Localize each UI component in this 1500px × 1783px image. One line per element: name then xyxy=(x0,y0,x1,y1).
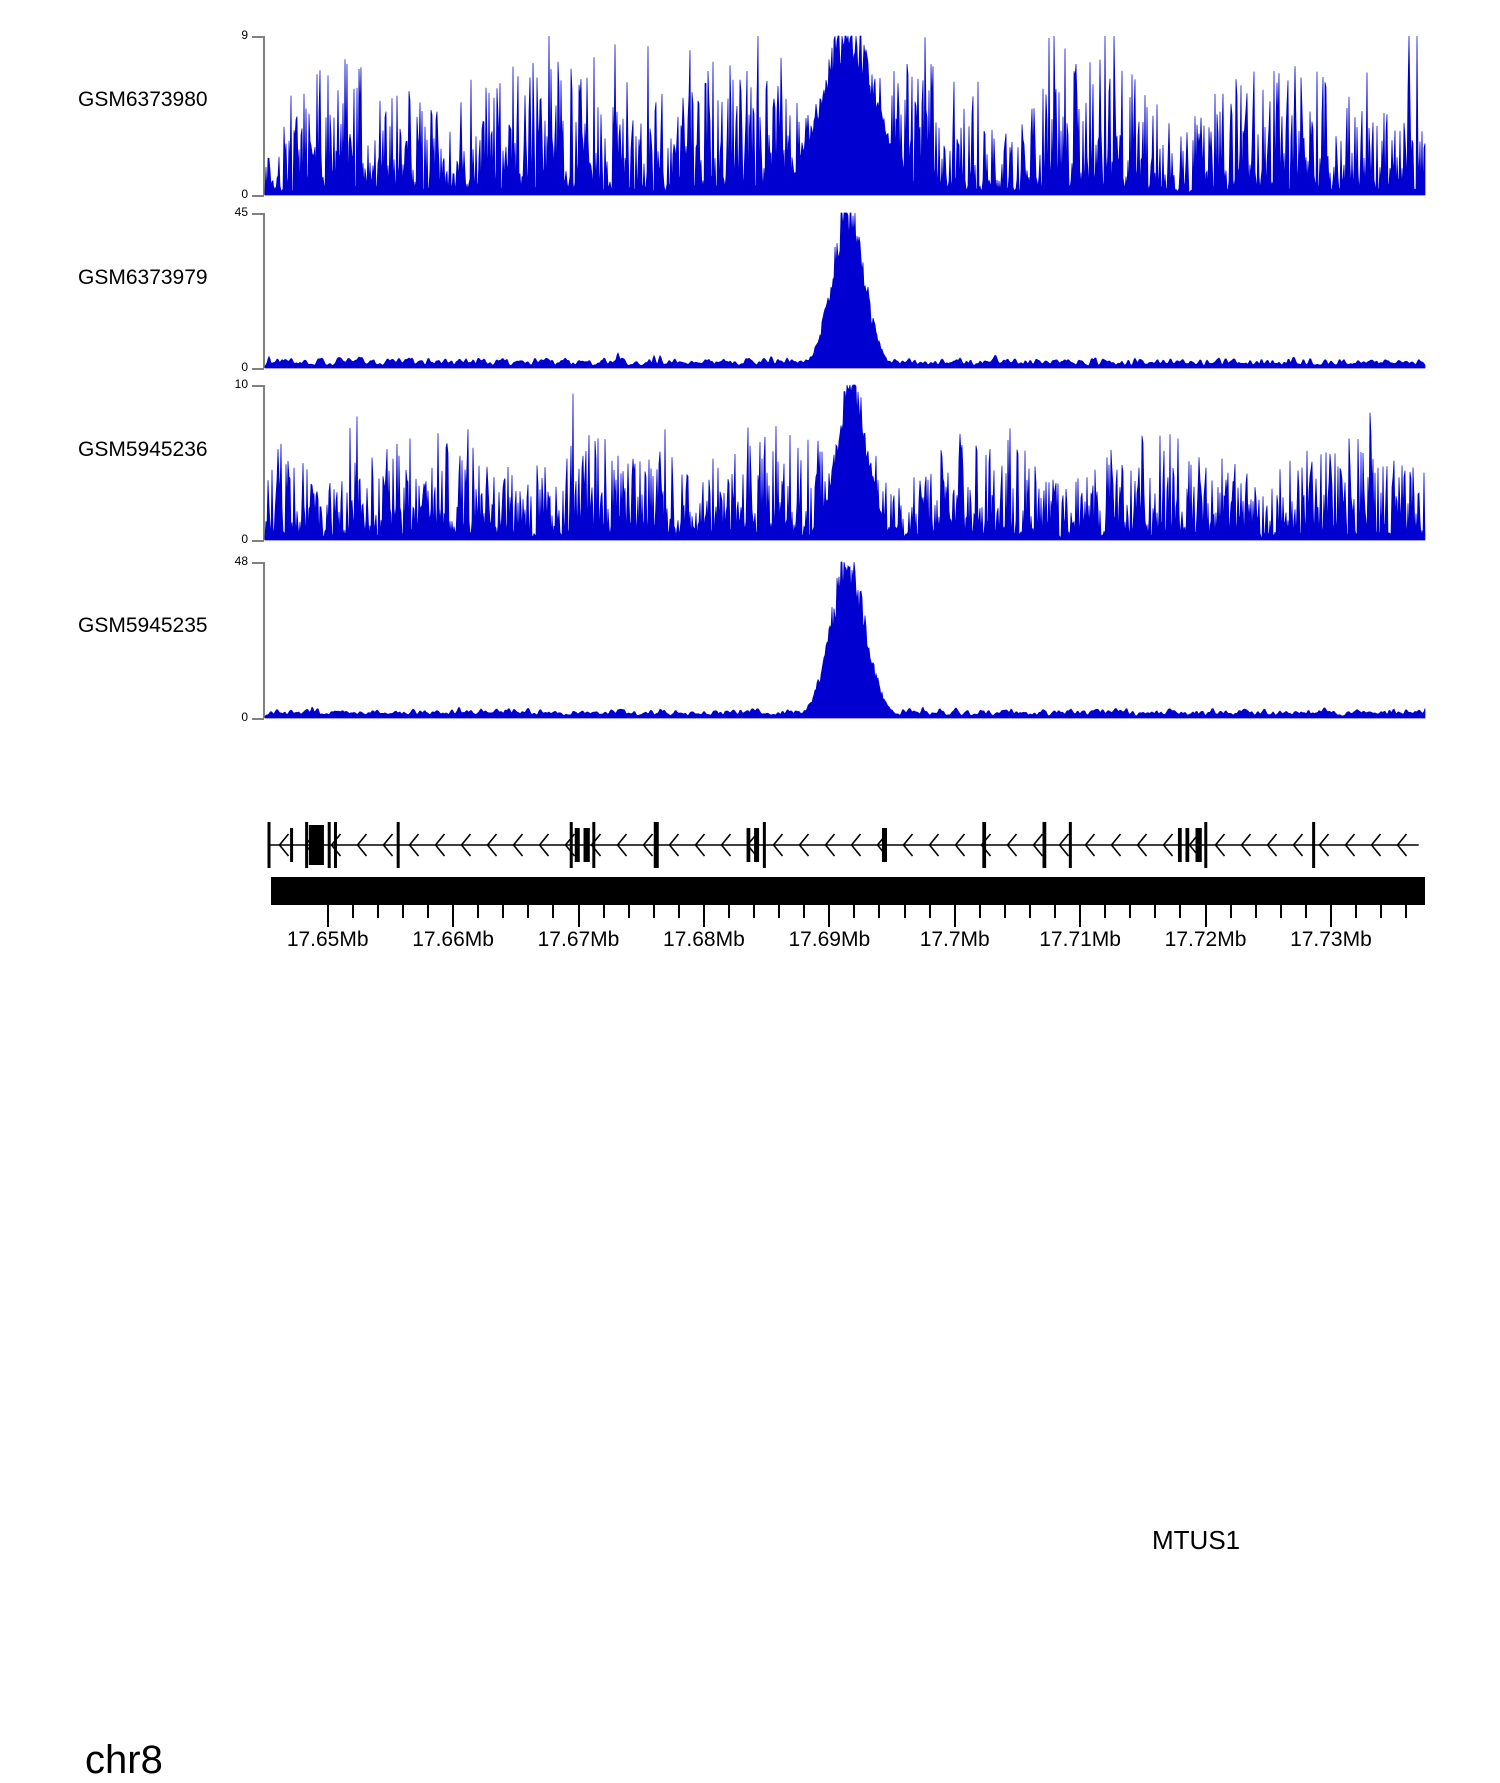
exon-block xyxy=(309,825,324,865)
y-axis-min-label: 0 xyxy=(195,710,248,724)
ruler-tick-minor xyxy=(904,905,906,918)
ruler-tick-minor xyxy=(803,905,805,918)
ruler-tick-minor xyxy=(929,905,931,918)
y-axis-min-label: 0 xyxy=(195,532,248,546)
ruler-tick-major xyxy=(703,905,705,927)
exon-block xyxy=(290,828,293,862)
ruler-tick-minor xyxy=(1054,905,1056,918)
ruler-tick-label: 17.68Mb xyxy=(634,928,774,952)
ruler-tick-label: 17.66Mb xyxy=(383,928,523,952)
y-axis-min-label: 0 xyxy=(195,360,248,374)
exon-block xyxy=(754,828,759,862)
ruler-tick-minor xyxy=(603,905,605,918)
y-axis-tick-min xyxy=(252,368,264,370)
ruler-tick-label: 17.73Mb xyxy=(1261,928,1401,952)
exon-block xyxy=(1312,822,1315,868)
ruler-tick-minor xyxy=(1129,905,1131,918)
y-axis-tick-max xyxy=(252,213,264,215)
y-axis-spine xyxy=(263,213,265,368)
ruler-tick-label: 17.69Mb xyxy=(759,928,899,952)
exon-block xyxy=(1069,822,1072,868)
exon-block xyxy=(305,822,308,868)
ruler-tick-minor xyxy=(552,905,554,918)
track-label-gsm6373980: GSM6373980 xyxy=(78,88,208,112)
ruler-tick-minor xyxy=(352,905,354,918)
y-axis-tick-min xyxy=(252,540,264,542)
exon-block xyxy=(882,828,887,862)
ruler-tick-label: 17.71Mb xyxy=(1010,928,1150,952)
y-axis-tick-max xyxy=(252,36,264,38)
y-axis-max-label: 45 xyxy=(195,205,248,219)
ruler-tick-minor xyxy=(1255,905,1257,918)
chromosome-label: chr8 xyxy=(85,1738,163,1783)
ruler-tick-label: 17.72Mb xyxy=(1136,928,1276,952)
ruler-tick-minor xyxy=(1280,905,1282,918)
y-axis-tick-min xyxy=(252,195,264,197)
y-axis-min-label: 0 xyxy=(195,187,248,201)
ruler-tick-major xyxy=(1330,905,1332,927)
y-axis-tick-max xyxy=(252,562,264,564)
exon-block xyxy=(1196,828,1202,862)
exon-block xyxy=(1178,828,1182,862)
ruler-tick-major xyxy=(1205,905,1207,927)
exon-block xyxy=(570,822,573,868)
ruler-tick-label: 17.65Mb xyxy=(258,928,398,952)
exon-block xyxy=(1185,828,1189,862)
chromosome-bar xyxy=(271,877,1425,905)
ruler-tick-minor xyxy=(427,905,429,918)
genome-ruler[interactable]: chr8 17.65Mb17.66Mb17.67Mb17.68Mb17.69Mb… xyxy=(0,870,1500,980)
exon-block xyxy=(1043,822,1047,868)
ruler-tick-minor xyxy=(653,905,655,918)
ruler-tick-major xyxy=(578,905,580,927)
exon-block xyxy=(763,822,766,868)
ruler-tick-major xyxy=(828,905,830,927)
ruler-tick-minor xyxy=(1230,905,1232,918)
track-label-gsm5945235: GSM5945235 xyxy=(78,614,208,638)
ruler-tick-minor xyxy=(1405,905,1407,918)
gene-annotation-track[interactable]: MTUS1 xyxy=(0,760,1500,870)
ruler-tick-minor xyxy=(1154,905,1156,918)
ruler-tick-minor xyxy=(527,905,529,918)
y-axis-tick-min xyxy=(252,718,264,720)
exon-block xyxy=(584,828,590,862)
exon-block xyxy=(575,828,580,862)
ruler-tick-minor xyxy=(753,905,755,918)
ruler-tick-minor xyxy=(1380,905,1382,918)
exon-block xyxy=(592,822,595,868)
ruler-tick-major xyxy=(452,905,454,927)
exon-block xyxy=(328,822,331,868)
exon-block xyxy=(1204,822,1207,868)
track-label-gsm6373979: GSM6373979 xyxy=(78,266,208,290)
ruler-tick-major xyxy=(327,905,329,927)
ruler-tick-major xyxy=(954,905,956,927)
ruler-tick-minor xyxy=(1355,905,1357,918)
exon-block xyxy=(397,822,400,868)
y-axis-max-label: 48 xyxy=(195,554,248,568)
exon-block xyxy=(654,822,659,868)
exon-block xyxy=(982,822,986,868)
ruler-tick-label: 17.7Mb xyxy=(885,928,1025,952)
ruler-tick-minor xyxy=(678,905,680,918)
ruler-tick-minor xyxy=(1305,905,1307,918)
gene-label-mtus1: MTUS1 xyxy=(1152,1525,1240,1556)
exon-block xyxy=(747,828,751,862)
ruler-tick-minor xyxy=(1029,905,1031,918)
y-axis-max-label: 9 xyxy=(195,28,248,42)
ruler-tick-minor xyxy=(402,905,404,918)
y-axis-spine xyxy=(263,36,265,195)
ruler-tick-minor xyxy=(853,905,855,918)
ruler-tick-minor xyxy=(1179,905,1181,918)
exon-block xyxy=(268,822,271,868)
ruler-tick-minor xyxy=(1104,905,1106,918)
ruler-tick-minor xyxy=(502,905,504,918)
y-axis-spine xyxy=(263,385,265,540)
ruler-tick-minor xyxy=(377,905,379,918)
ruler-tick-minor xyxy=(1004,905,1006,918)
ruler-tick-minor xyxy=(979,905,981,918)
ruler-tick-minor xyxy=(778,905,780,918)
ruler-tick-minor xyxy=(477,905,479,918)
ruler-tick-major xyxy=(1079,905,1081,927)
ruler-tick-minor xyxy=(728,905,730,918)
y-axis-max-label: 10 xyxy=(195,377,248,391)
exon-block xyxy=(334,822,337,868)
ruler-tick-label: 17.67Mb xyxy=(509,928,649,952)
y-axis-tick-max xyxy=(252,385,264,387)
ruler-tick-minor xyxy=(878,905,880,918)
y-axis-spine xyxy=(263,562,265,718)
ruler-tick-minor xyxy=(628,905,630,918)
track-label-gsm5945236: GSM5945236 xyxy=(78,438,208,462)
